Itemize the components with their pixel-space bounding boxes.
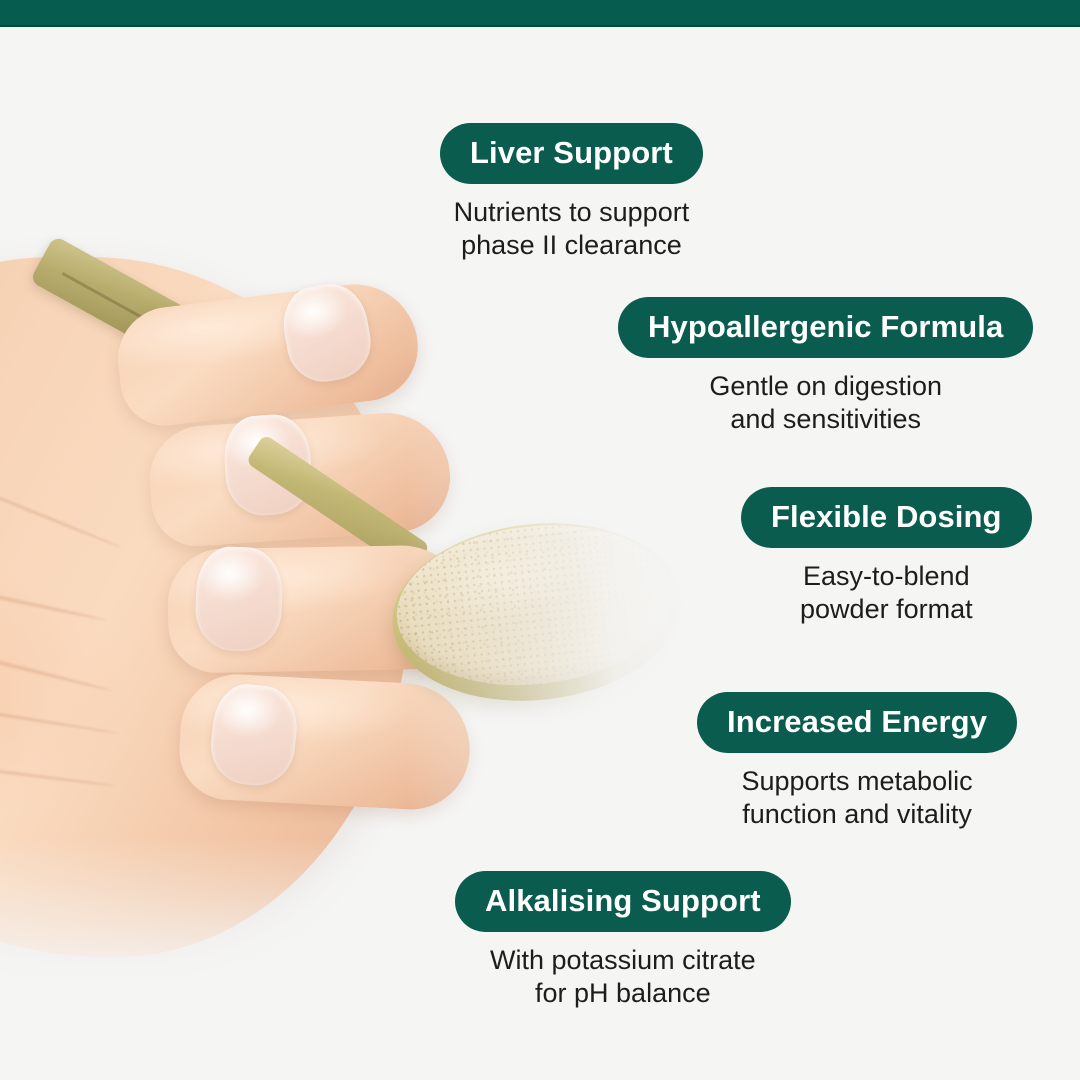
benefit-increased-energy: Increased Energy Supports metabolic func…: [697, 692, 1017, 831]
benefit-title-pill: Flexible Dosing: [741, 487, 1032, 548]
infographic-page: Liver Support Nutrients to support phase…: [0, 0, 1080, 1080]
benefit-alkalising-support: Alkalising Support With potassium citrat…: [455, 871, 791, 1010]
palm-crease: [0, 754, 115, 787]
benefit-description: Nutrients to support phase II clearance: [440, 196, 703, 262]
benefit-title-pill: Hypoallergenic Formula: [618, 297, 1033, 358]
benefit-title-pill: Liver Support: [440, 123, 703, 184]
brand-top-band: [0, 0, 1080, 27]
spoon-bowl: [384, 509, 691, 714]
benefit-title-pill: Alkalising Support: [455, 871, 791, 932]
benefit-description: With potassium citrate for pH balance: [455, 944, 791, 1010]
palm-crease: [0, 686, 118, 734]
fingernail: [194, 546, 284, 653]
benefit-flexible-dosing: Flexible Dosing Easy-to-blend powder for…: [741, 487, 1032, 626]
benefit-description: Gentle on digestion and sensitivities: [618, 370, 1033, 436]
benefit-description: Easy-to-blend powder format: [741, 560, 1032, 626]
benefit-hypoallergenic-formula: Hypoallergenic Formula Gentle on digesti…: [618, 297, 1033, 436]
benefit-description: Supports metabolic function and vitality: [697, 765, 1017, 831]
benefit-title-pill: Increased Energy: [697, 692, 1017, 753]
palm-crease: [0, 609, 114, 693]
palm-crease: [0, 468, 123, 549]
benefit-liver-support: Liver Support Nutrients to support phase…: [440, 123, 703, 262]
palm-crease: [0, 556, 107, 622]
